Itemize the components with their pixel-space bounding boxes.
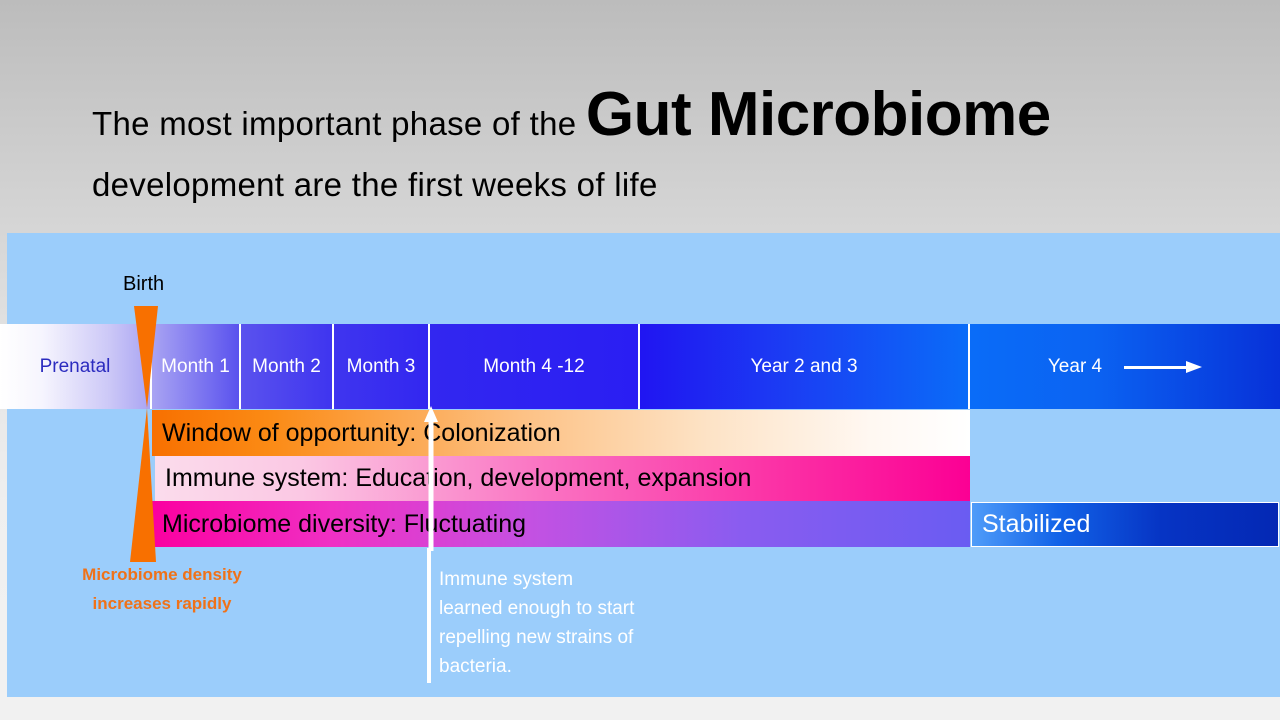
phase-bar-microbiome-diversity[interactable]: Microbiome diversity: Fluctuating (152, 501, 970, 547)
birth-label: Birth (123, 273, 164, 296)
title-line-1: The most important phase of the Gut Micr… (92, 88, 1192, 158)
title-line-2: development are the first weeks of life (92, 158, 1192, 219)
arrow-up-icon (424, 406, 438, 551)
title-subtext: development are the first weeks of life (92, 166, 658, 203)
timeline-segment-label: Year 4 (1048, 354, 1102, 379)
arrow-right-icon (1124, 361, 1202, 373)
timeline-segment-label: Year 2 and 3 (750, 354, 857, 379)
timeline-segment-label: Month 2 (252, 354, 321, 379)
timeline-segment-label: Prenatal (40, 354, 111, 379)
immune-system-note: Immune system learned enough to start re… (439, 565, 639, 681)
timeline-segment-label: Month 4 -12 (483, 354, 584, 379)
timeline-segment-label: Month 3 (347, 354, 416, 379)
timeline-segment-year-4-inner: Year 4 (1048, 354, 1202, 379)
timeline-segment-prenatal[interactable]: Prenatal (0, 324, 152, 409)
timeline-segment-month-4-12[interactable]: Month 4 -12 (430, 324, 640, 409)
phase-bar-label: Window of opportunity: Colonization (152, 419, 561, 448)
phase-bar-label: Stabilized (972, 510, 1090, 539)
microbiome-density-note: Microbiome density increases rapidly (44, 560, 280, 618)
title-text-emphasis: Gut Microbiome (586, 80, 1051, 149)
timeline-segment-year-2-and-3[interactable]: Year 2 and 3 (640, 324, 970, 409)
phase-bar-immune-system[interactable]: Immune system: Education, development, e… (155, 456, 970, 501)
phase-bar-window-of-opportunity[interactable]: Window of opportunity: Colonization (152, 410, 970, 456)
timeline-segment-month-1[interactable]: Month 1 (152, 324, 241, 409)
page-title: The most important phase of the Gut Micr… (92, 88, 1192, 219)
slide: The most important phase of the Gut Micr… (0, 0, 1280, 720)
timeline-segment-label: Month 1 (161, 354, 230, 379)
title-text-normal: The most important phase of the (92, 105, 586, 142)
phase-bar-label: Immune system: Education, development, e… (155, 464, 751, 493)
phase-bar-label: Microbiome diversity: Fluctuating (152, 510, 526, 539)
phase-bar-stabilized[interactable]: Stabilized (971, 502, 1279, 547)
timeline-segment-year-4[interactable]: Year 4 (970, 324, 1280, 409)
timeline-segment-month-2[interactable]: Month 2 (241, 324, 334, 409)
timeline-strip: Prenatal Month 1 Month 2 Month 3 Month 4… (0, 324, 1280, 409)
timeline-segment-month-3[interactable]: Month 3 (334, 324, 430, 409)
immune-note-connector (427, 548, 431, 683)
